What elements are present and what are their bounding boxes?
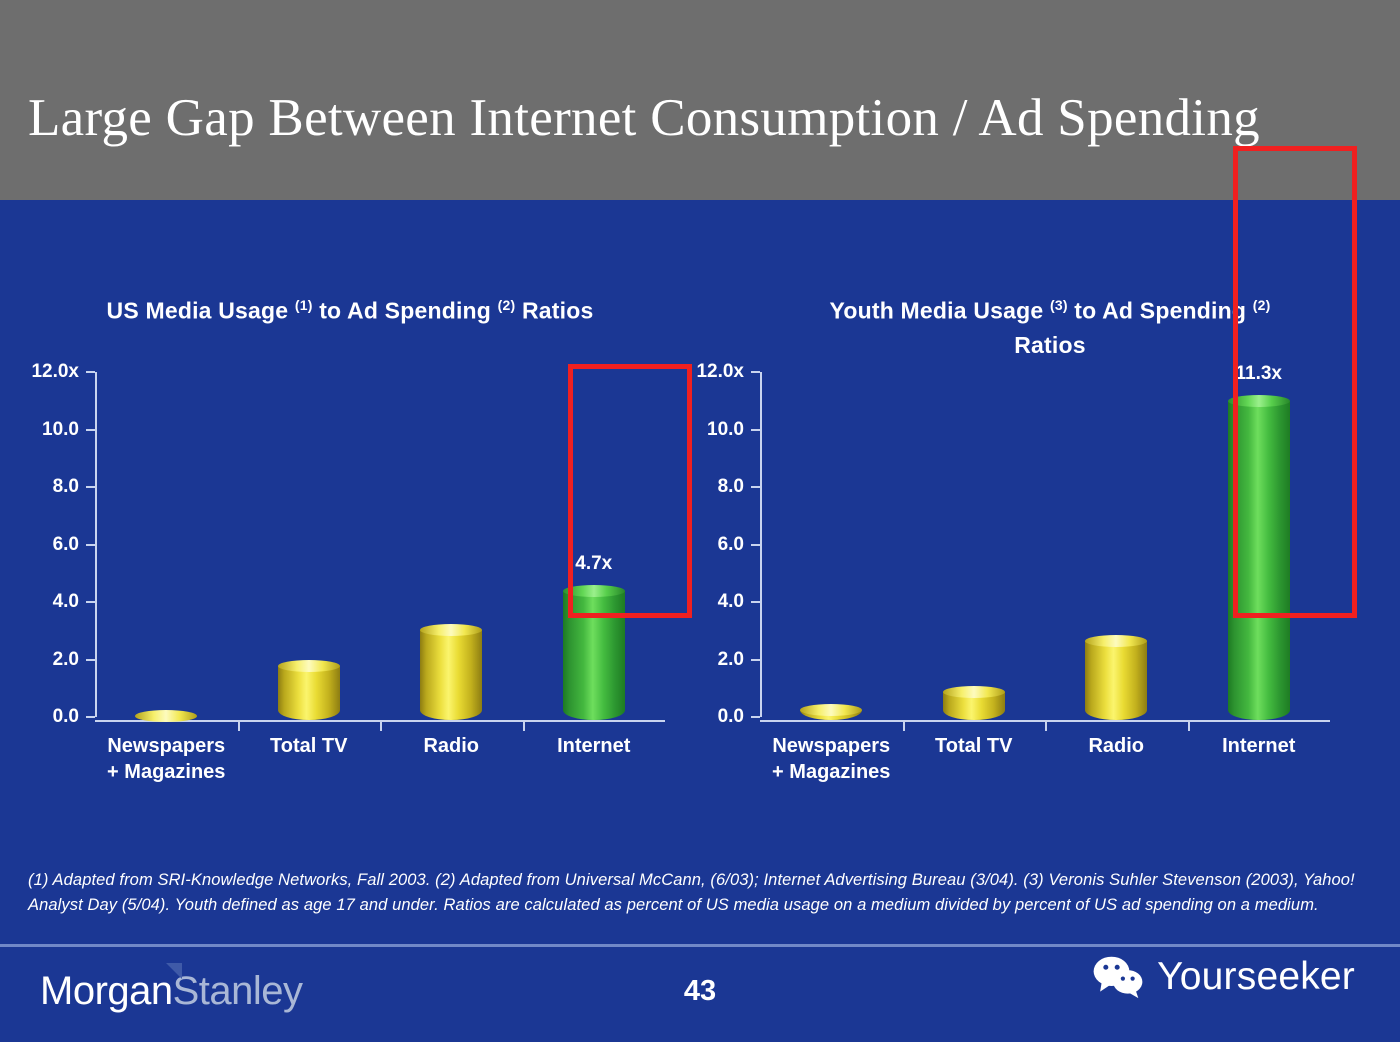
y-tick-youth-5 [751,429,760,431]
yourseeker-label: Yourseeker [1157,955,1355,999]
y-tick-us-1 [86,659,95,661]
y-tick-label-us-2: 4.0 [53,591,79,613]
bar-us-2 [420,624,482,720]
chart-title-lead-us: US Media Usage [107,298,289,324]
chart-title-mid-us: to Ad Spending [319,298,491,324]
y-tick-youth-4 [751,486,760,488]
y-tick-label-us-0: 0.0 [53,706,79,728]
bar-top [943,686,1005,698]
y-tick-label-us-4: 8.0 [53,476,79,498]
bar-us-1 [278,660,340,720]
footnote: (1) Adapted from SRI-Knowledge Networks,… [28,868,1376,918]
bar-side [1085,641,1147,720]
bar-us-0 [135,710,197,720]
x-tick-youth-2 [1045,722,1047,731]
y-tick-label-youth-3: 6.0 [718,534,744,556]
chart-title-mid-youth: to Ad Spending [1074,298,1246,324]
slide-footer: MorganStanley 43 Yourseeker [0,947,1400,1042]
bar-top [420,624,482,636]
chart-title-tail-us: Ratios [522,298,594,324]
y-tick-label-us-1: 2.0 [53,649,79,671]
bar-youth-1 [943,686,1005,721]
y-tick-us-3 [86,544,95,546]
y-tick-us-6 [86,371,95,373]
title-band: Large Gap Between Internet Consumption /… [0,0,1400,200]
y-tick-youth-1 [751,659,760,661]
y-tick-youth-0 [751,716,760,718]
x-tick-youth-3 [1188,722,1190,731]
highlight-box-internet-us [568,364,692,618]
slide-body: US Media Usage (1) to Ad Spending (2) Ra… [0,200,1400,942]
yourseeker-brand: Yourseeker [1092,955,1355,999]
bar-side [278,666,340,720]
x-tick-us-3 [523,722,525,731]
y-tick-label-youth-0: 0.0 [718,706,744,728]
y-tick-us-4 [86,486,95,488]
bar-youth-2 [1085,635,1147,720]
y-tick-label-us-5: 10.0 [42,419,79,441]
y-tick-us-0 [86,716,95,718]
y-axis-line-youth [760,372,762,717]
x-tick-us-1 [238,722,240,731]
y-tick-us-5 [86,429,95,431]
y-tick-label-youth-4: 8.0 [718,476,744,498]
y-tick-label-us-3: 6.0 [53,534,79,556]
y-tick-youth-2 [751,601,760,603]
y-tick-label-youth-2: 4.0 [718,591,744,613]
chart-title-sup1-youth: (3) [1050,297,1068,313]
chart-title-sup1-us: (1) [295,297,313,313]
chart-title-tail-youth: Ratios [1014,332,1086,358]
bar-top [278,660,340,672]
chart-title-us: US Media Usage (1) to Ad Spending (2) Ra… [0,288,700,328]
chart-us-media-usage: US Media Usage (1) to Ad Spending (2) Ra… [0,200,700,820]
bar-side [420,630,482,720]
bar-youth-0 [800,704,862,720]
y-tick-label-youth-5: 10.0 [707,419,744,441]
wechat-icon [1092,955,1144,999]
category-label-us-3: Internet [494,733,694,759]
y-tick-us-2 [86,601,95,603]
y-tick-label-youth-6: 12.0x [696,361,744,383]
y-tick-youth-6 [751,371,760,373]
highlight-box-internet-youth [1233,146,1357,618]
chart-youth-media-usage: Youth Media Usage (3) to Ad Spending (2)… [700,200,1400,820]
category-label-youth-3: Internet [1159,733,1359,759]
y-tick-label-youth-1: 2.0 [718,649,744,671]
slide-title: Large Gap Between Internet Consumption /… [28,92,1260,145]
y-axis-line-us [95,372,97,717]
y-tick-label-us-6: 12.0x [31,361,79,383]
y-tick-youth-3 [751,544,760,546]
x-tick-youth-1 [903,722,905,731]
chart-title-lead-youth: Youth Media Usage [830,298,1044,324]
bar-top [135,710,197,722]
chart-title-sup2-us: (2) [498,297,516,313]
x-tick-us-2 [380,722,382,731]
